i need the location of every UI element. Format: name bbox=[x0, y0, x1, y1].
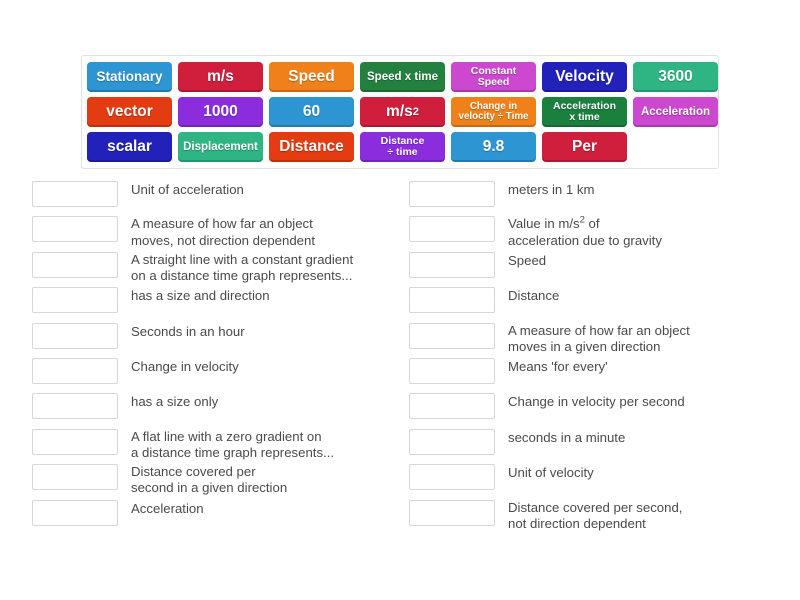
answer-list-left: Unit of accelerationA measure of how far… bbox=[32, 181, 392, 535]
answer-row: Change in velocity per second bbox=[409, 393, 791, 428]
drop-slot-left-4[interactable] bbox=[32, 287, 118, 313]
answer-row: Distance bbox=[409, 287, 791, 322]
drop-slot-left-3[interactable] bbox=[32, 252, 118, 278]
answer-row: Distance covered per second in a given d… bbox=[32, 464, 392, 499]
answer-row: Acceleration bbox=[32, 500, 392, 535]
word-tile[interactable]: Speed x time bbox=[360, 62, 445, 92]
word-tile[interactable]: Acceleration bbox=[633, 97, 718, 127]
answer-row: seconds in a minute bbox=[409, 429, 791, 464]
word-tile[interactable]: vector bbox=[87, 97, 172, 127]
word-tile[interactable]: Accelerationx time bbox=[542, 97, 627, 127]
answer-label: Acceleration bbox=[118, 500, 392, 517]
answer-row: A flat line with a zero gradient on a di… bbox=[32, 429, 392, 464]
answer-label: Change in velocity per second bbox=[495, 393, 791, 410]
answer-label: A flat line with a zero gradient on a di… bbox=[118, 429, 392, 462]
answer-row: Unit of velocity bbox=[409, 464, 791, 499]
tile-row: scalarDisplacementDistanceDistance÷ time… bbox=[87, 132, 713, 162]
answer-label: A measure of how far an object moves in … bbox=[495, 323, 791, 356]
word-tile[interactable]: m/s bbox=[178, 62, 263, 92]
answer-label: A straight line with a constant gradient… bbox=[118, 252, 392, 285]
answer-row: A measure of how far an object moves in … bbox=[409, 323, 791, 358]
answer-row: Seconds in an hour bbox=[32, 323, 392, 358]
answer-row: Unit of acceleration bbox=[32, 181, 392, 216]
answer-label: Distance covered per second, not directi… bbox=[495, 500, 791, 533]
answer-label: Unit of velocity bbox=[495, 464, 791, 481]
word-tile[interactable]: Speed bbox=[269, 62, 354, 92]
tile-row: Stationarym/sSpeedSpeed x timeConstantSp… bbox=[87, 62, 713, 92]
answer-row: has a size only bbox=[32, 393, 392, 428]
drop-slot-right-5[interactable] bbox=[409, 323, 495, 349]
word-tile[interactable]: 1000 bbox=[178, 97, 263, 127]
drop-slot-left-6[interactable] bbox=[32, 358, 118, 384]
drop-slot-right-9[interactable] bbox=[409, 464, 495, 490]
tile-row: vector100060m/s2Change invelocity ÷ Time… bbox=[87, 97, 713, 127]
answer-list-right: meters in 1 kmValue in m/s2 ofaccelerati… bbox=[409, 181, 791, 535]
answer-row: Value in m/s2 ofacceleration due to grav… bbox=[409, 216, 791, 251]
drop-slot-left-10[interactable] bbox=[32, 500, 118, 526]
answer-label: Change in velocity bbox=[118, 358, 392, 375]
drop-slot-left-2[interactable] bbox=[32, 216, 118, 242]
word-tile[interactable]: Change invelocity ÷ Time bbox=[451, 97, 536, 127]
word-tile-bank: Stationarym/sSpeedSpeed x timeConstantSp… bbox=[81, 55, 719, 169]
answer-label: Distance bbox=[495, 287, 791, 304]
drop-slot-left-1[interactable] bbox=[32, 181, 118, 207]
answer-label: Speed bbox=[495, 252, 791, 269]
word-tile[interactable]: Stationary bbox=[87, 62, 172, 92]
word-tile[interactable]: scalar bbox=[87, 132, 172, 162]
drop-slot-left-9[interactable] bbox=[32, 464, 118, 490]
word-tile[interactable]: Velocity bbox=[542, 62, 627, 92]
drop-slot-right-7[interactable] bbox=[409, 393, 495, 419]
answer-label: A measure of how far an object moves, no… bbox=[118, 216, 392, 249]
answer-row: A straight line with a constant gradient… bbox=[32, 252, 392, 287]
answer-row: Distance covered per second, not directi… bbox=[409, 500, 791, 535]
word-tile[interactable]: Displacement bbox=[178, 132, 263, 162]
answer-row: Means 'for every' bbox=[409, 358, 791, 393]
word-tile[interactable]: 60 bbox=[269, 97, 354, 127]
answer-label: Seconds in an hour bbox=[118, 323, 392, 340]
answer-label: Means 'for every' bbox=[495, 358, 791, 375]
answer-row: meters in 1 km bbox=[409, 181, 791, 216]
word-tile[interactable]: Distance bbox=[269, 132, 354, 162]
word-tile[interactable]: ConstantSpeed bbox=[451, 62, 536, 92]
drop-slot-right-6[interactable] bbox=[409, 358, 495, 384]
word-tile[interactable]: m/s2 bbox=[360, 97, 445, 127]
answer-label: has a size only bbox=[118, 393, 392, 410]
answer-label: seconds in a minute bbox=[495, 429, 791, 446]
answer-row: Speed bbox=[409, 252, 791, 287]
word-tile[interactable]: 9.8 bbox=[451, 132, 536, 162]
drop-slot-right-4[interactable] bbox=[409, 287, 495, 313]
drop-slot-right-2[interactable] bbox=[409, 216, 495, 242]
drop-slot-left-5[interactable] bbox=[32, 323, 118, 349]
answer-label: Distance covered per second in a given d… bbox=[118, 464, 392, 497]
answer-row: A measure of how far an object moves, no… bbox=[32, 216, 392, 251]
word-tile[interactable]: 3600 bbox=[633, 62, 718, 92]
answer-label: meters in 1 km bbox=[495, 181, 791, 198]
answer-label: Value in m/s2 ofacceleration due to grav… bbox=[495, 216, 791, 249]
word-tile[interactable]: Distance÷ time bbox=[360, 132, 445, 162]
drop-slot-right-3[interactable] bbox=[409, 252, 495, 278]
answer-row: has a size and direction bbox=[32, 287, 392, 322]
answer-label: Unit of acceleration bbox=[118, 181, 392, 198]
drop-slot-left-7[interactable] bbox=[32, 393, 118, 419]
word-tile[interactable]: Per bbox=[542, 132, 627, 162]
answer-label: has a size and direction bbox=[118, 287, 392, 304]
answer-row: Change in velocity bbox=[32, 358, 392, 393]
drop-slot-right-10[interactable] bbox=[409, 500, 495, 526]
drop-slot-left-8[interactable] bbox=[32, 429, 118, 455]
drop-slot-right-1[interactable] bbox=[409, 181, 495, 207]
drop-slot-right-8[interactable] bbox=[409, 429, 495, 455]
